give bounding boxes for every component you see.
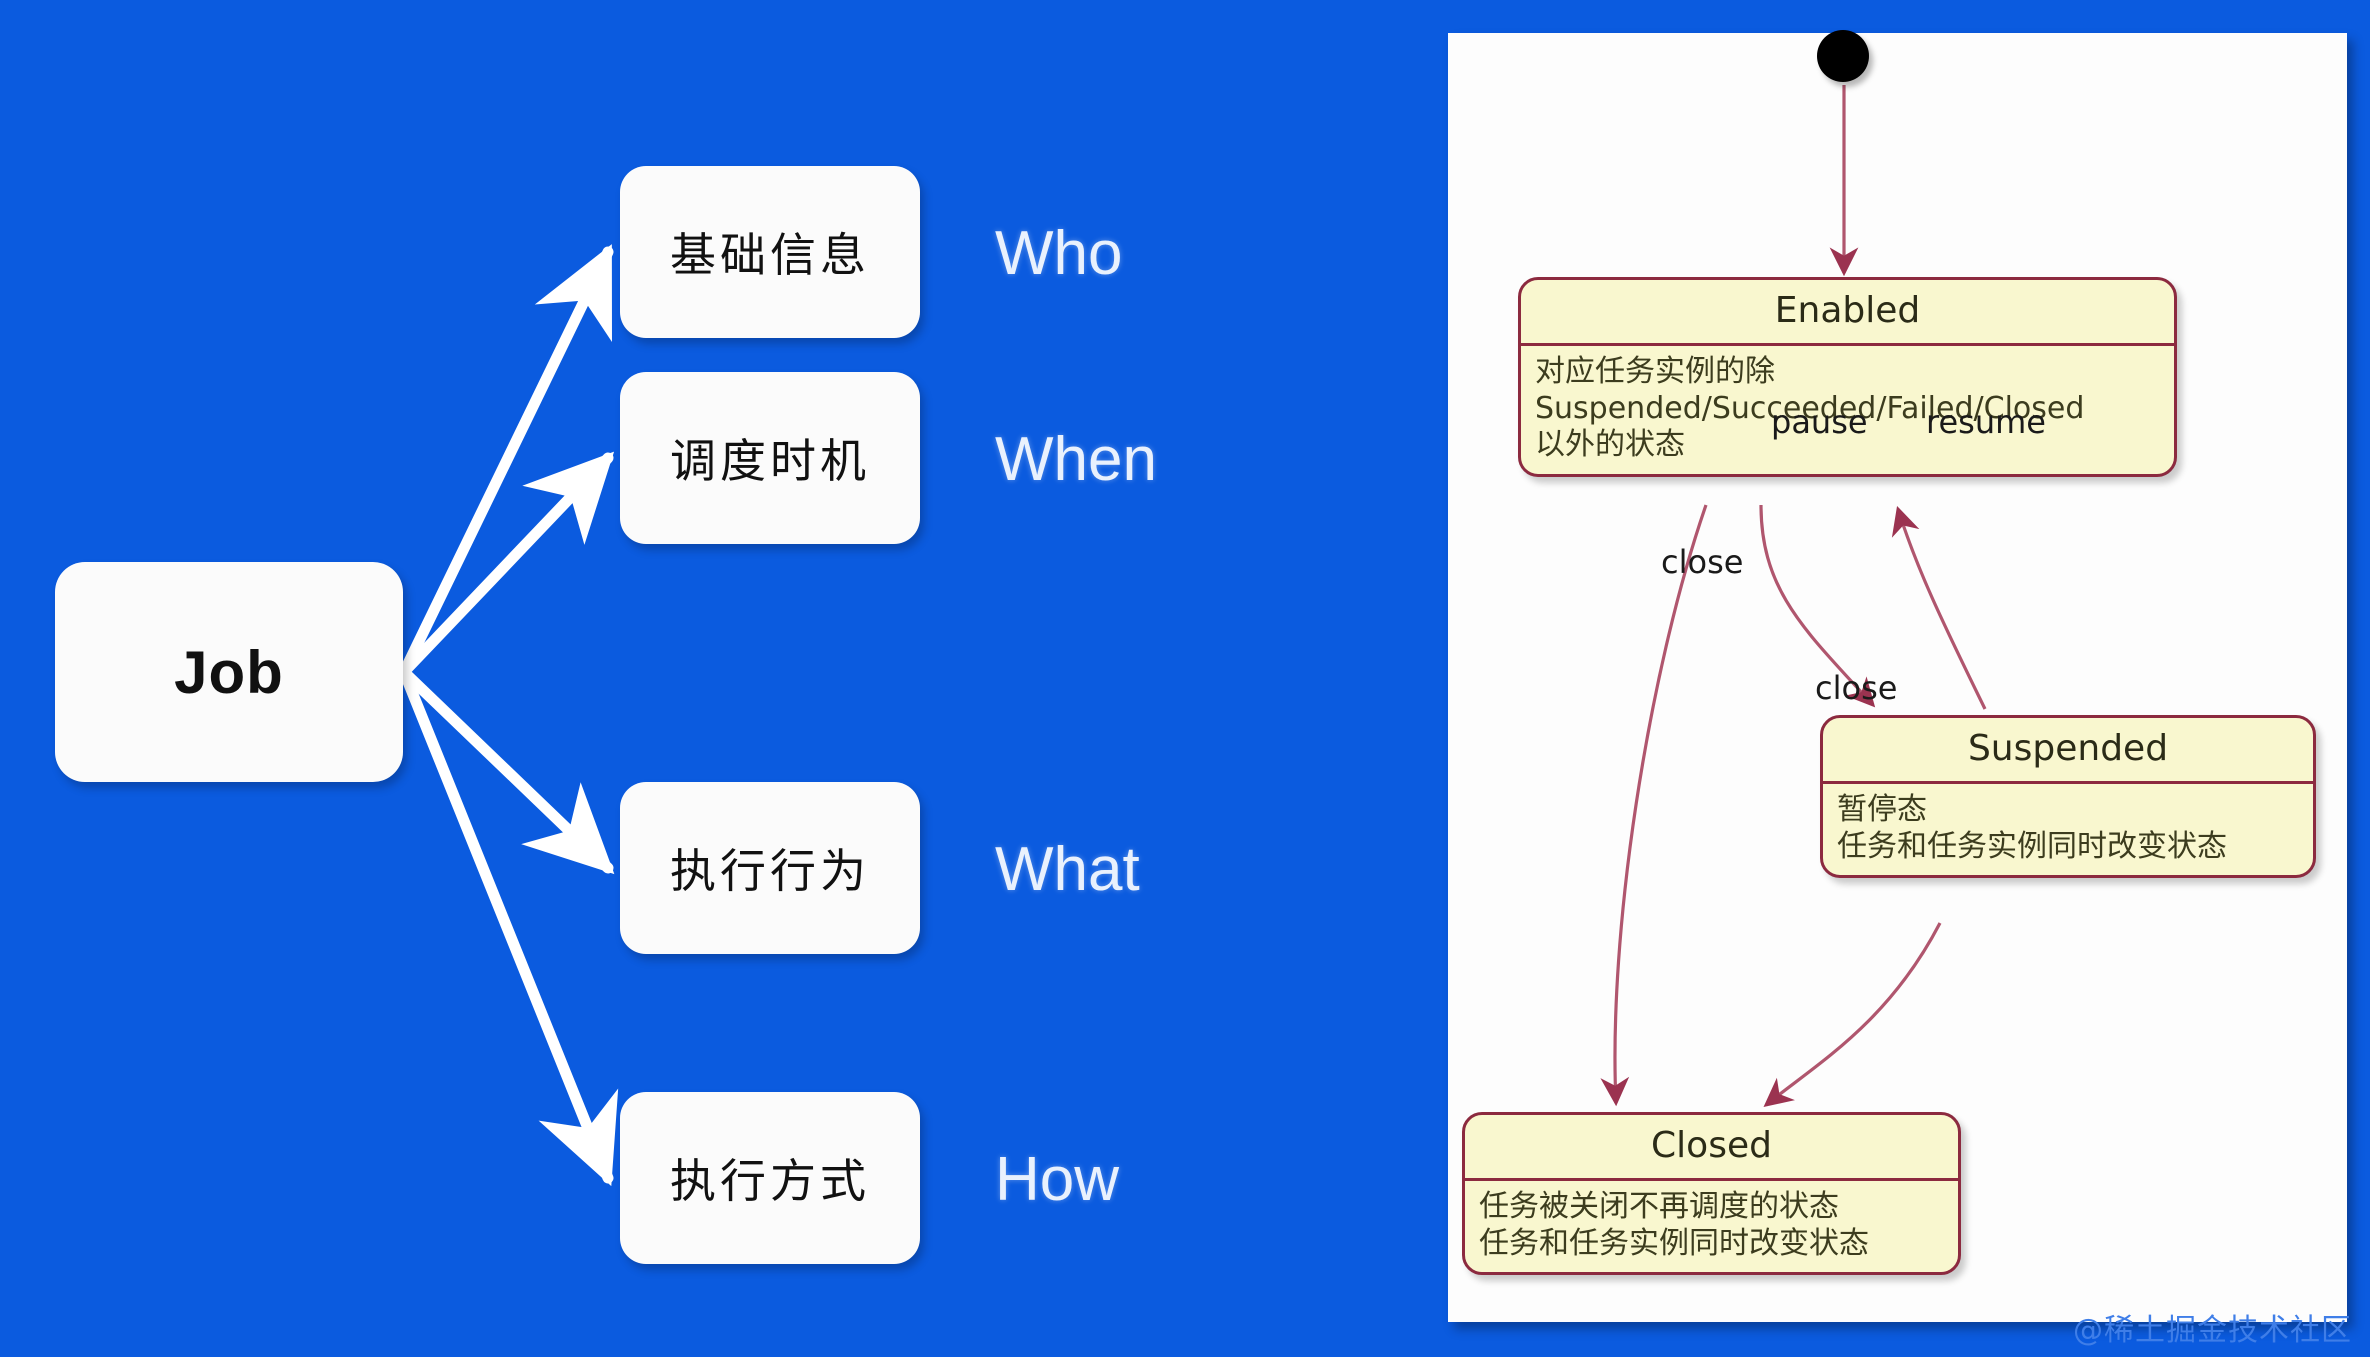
- mindmap-node-execution-method[interactable]: 执行方式: [620, 1092, 920, 1264]
- mindmap-region: Job 基础信息 调度时机 执行行为 执行方式 Who When What Ho…: [0, 0, 1400, 1357]
- mindmap-question-who: Who: [995, 218, 1122, 289]
- mindmap-root-node-job[interactable]: Job: [55, 562, 403, 782]
- uml-state-title: Enabled: [1521, 280, 2174, 343]
- mindmap-node-label: 执行行为: [670, 835, 870, 901]
- uml-state-title: Closed: [1465, 1115, 1958, 1178]
- mindmap-question-what: What: [995, 834, 1140, 905]
- mindmap-root-label: Job: [174, 638, 284, 707]
- uml-state-enabled[interactable]: Enabled 对应任务实例的除 Suspended/Succeeded/Fai…: [1518, 277, 2177, 477]
- mindmap-connector-0: [404, 252, 608, 672]
- uml-state-suspended[interactable]: Suspended 暂停态 任务和任务实例同时改变状态: [1820, 715, 2316, 878]
- mindmap-node-label: 执行方式: [670, 1145, 870, 1211]
- mindmap-connector-2: [404, 672, 608, 868]
- uml-transition-resume: [1898, 509, 1985, 709]
- mindmap-connector-3: [404, 672, 608, 1178]
- uml-transition-label-resume: resume: [1926, 403, 2046, 441]
- uml-transition-enabled-close: [1615, 505, 1706, 1103]
- mindmap-node-label: 基础信息: [670, 219, 870, 285]
- watermark-text: @稀土掘金技术社区: [2073, 1305, 2352, 1349]
- mindmap-node-schedule-timing[interactable]: 调度时机: [620, 372, 920, 544]
- mindmap-connector-1: [404, 458, 608, 672]
- uml-transition-suspended-close: [1766, 923, 1940, 1105]
- uml-state-closed[interactable]: Closed 任务被关闭不再调度的状态 任务和任务实例同时改变状态: [1462, 1112, 1961, 1275]
- uml-initial-state-icon: [1817, 30, 1869, 82]
- uml-transition-label-close-suspended: close: [1815, 669, 1897, 707]
- uml-state-title: Suspended: [1823, 718, 2313, 781]
- uml-state-diagram-panel: Enabled 对应任务实例的除 Suspended/Succeeded/Fai…: [1448, 33, 2347, 1322]
- mindmap-node-basic-info[interactable]: 基础信息: [620, 166, 920, 338]
- uml-state-body: 任务被关闭不再调度的状态 任务和任务实例同时改变状态: [1465, 1181, 1958, 1272]
- slide-canvas: Job 基础信息 调度时机 执行行为 执行方式 Who When What Ho…: [0, 0, 2370, 1357]
- mindmap-question-how: How: [995, 1144, 1119, 1215]
- mindmap-node-execution-behavior[interactable]: 执行行为: [620, 782, 920, 954]
- uml-transition-label-close-enabled: close: [1661, 543, 1743, 581]
- uml-state-body: 暂停态 任务和任务实例同时改变状态: [1823, 784, 2313, 875]
- mindmap-question-when: When: [995, 424, 1157, 495]
- mindmap-node-label: 调度时机: [670, 425, 870, 491]
- uml-transition-label-pause: pause: [1771, 403, 1868, 441]
